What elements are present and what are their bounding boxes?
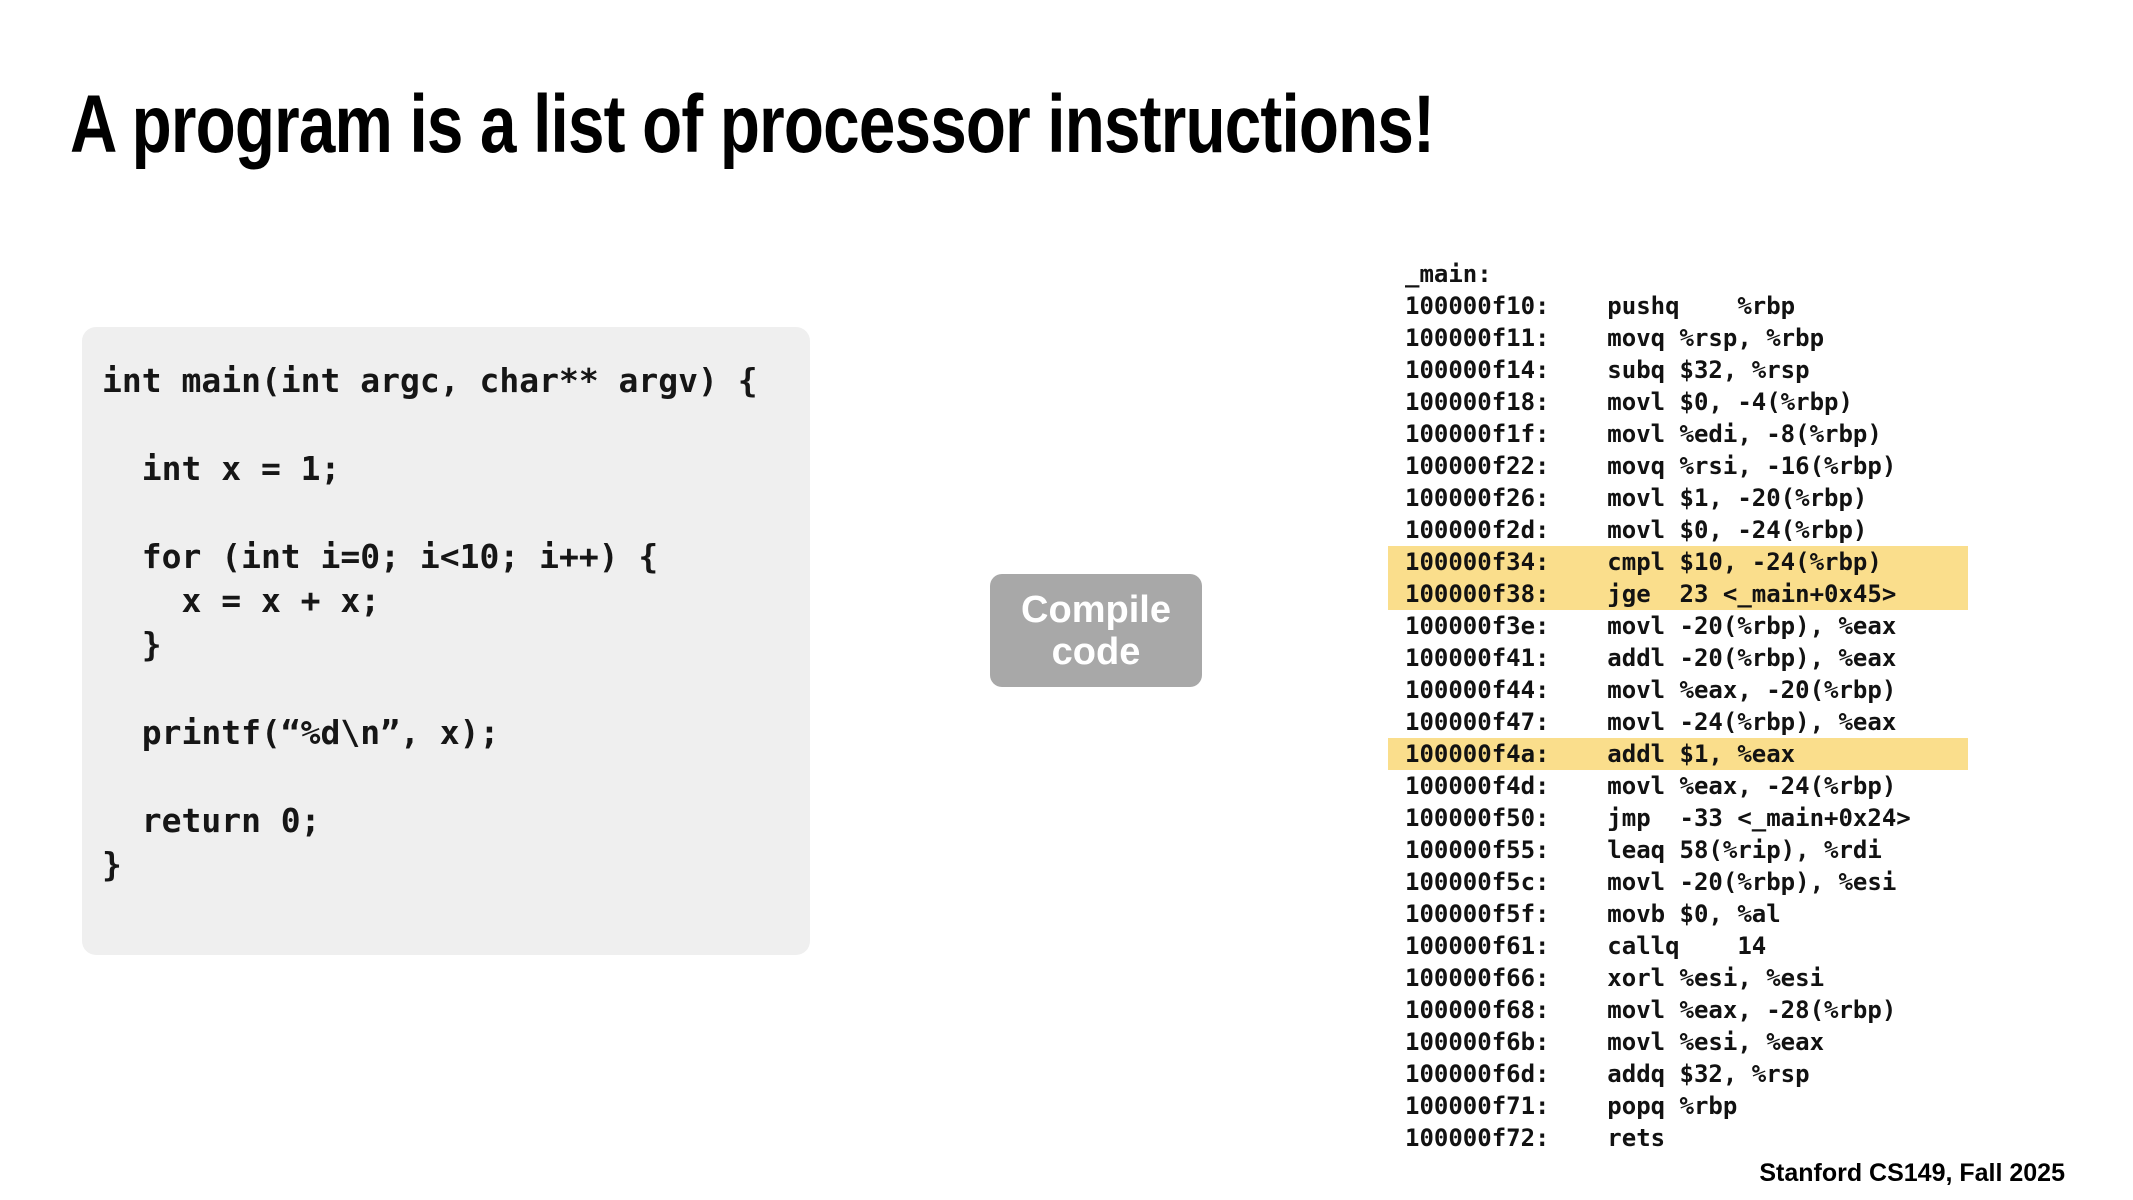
disassembly-row: 100000f4d: movl %eax, -24(%rbp) [1388,770,2008,802]
disassembly-row-text: 100000f41: addl -20(%rbp), %eax [1388,642,1896,674]
disassembly-row-text: 100000f38: jge 23 <_main+0x45> [1388,578,1896,610]
disassembly-row-text: 100000f44: movl %eax, -20(%rbp) [1388,674,1896,706]
disassembly-row-text: _main: [1388,258,1492,290]
disassembly-row-text: 100000f5f: movb $0, %al [1388,898,1781,930]
disassembly-row-text: 100000f11: movq %rsp, %rbp [1388,322,1824,354]
disassembly-row-text: 100000f6d: addq $32, %rsp [1388,1058,1810,1090]
disassembly-row: 100000f5f: movb $0, %al [1388,898,2008,930]
disassembly-row: 100000f34: cmpl $10, -24(%rbp) [1388,546,2008,578]
disassembly-row-text: 100000f55: leaq 58(%rip), %rdi [1388,834,1882,866]
disassembly-row-text: 100000f5c: movl -20(%rbp), %esi [1388,866,1896,898]
disassembly-row-text: 100000f3e: movl -20(%rbp), %eax [1388,610,1896,642]
disassembly-row: 100000f41: addl -20(%rbp), %eax [1388,642,2008,674]
disassembly-row-text: 100000f26: movl $1, -20(%rbp) [1388,482,1867,514]
disassembly-row: 100000f55: leaq 58(%rip), %rdi [1388,834,2008,866]
disassembly-row-text: 100000f61: callq 14 [1388,930,1766,962]
disassembly-row: 100000f18: movl $0, -4(%rbp) [1388,386,2008,418]
compile-code-box: Compile code [990,574,1202,687]
disassembly-row-text: 100000f71: popq %rbp [1388,1090,1737,1122]
disassembly-row-text: 100000f34: cmpl $10, -24(%rbp) [1388,546,1882,578]
disassembly-row: 100000f2d: movl $0, -24(%rbp) [1388,514,2008,546]
disassembly-row-text: 100000f47: movl -24(%rbp), %eax [1388,706,1896,738]
disassembly-row: 100000f6d: addq $32, %rsp [1388,1058,2008,1090]
disassembly-row: 100000f44: movl %eax, -20(%rbp) [1388,674,2008,706]
disassembly-row: 100000f22: movq %rsi, -16(%rbp) [1388,450,2008,482]
disassembly-row: 100000f61: callq 14 [1388,930,2008,962]
disassembly-row: 100000f38: jge 23 <_main+0x45> [1388,578,2008,610]
disassembly-row: 100000f26: movl $1, -20(%rbp) [1388,482,2008,514]
disassembly-row-text: 100000f50: jmp -33 <_main+0x24> [1388,802,1911,834]
disassembly-row: 100000f6b: movl %esi, %eax [1388,1026,2008,1058]
disassembly-row-text: 100000f22: movq %rsi, -16(%rbp) [1388,450,1896,482]
disassembly-row: 100000f4a: addl $1, %eax [1388,738,2008,770]
disassembly-row: 100000f71: popq %rbp [1388,1090,2008,1122]
disassembly-row-text: 100000f72: rets [1388,1122,1665,1154]
disassembly-row: 100000f10: pushq %rbp [1388,290,2008,322]
source-code-panel: int main(int argc, char** argv) { int x … [82,327,810,955]
disassembly-row: 100000f3e: movl -20(%rbp), %eax [1388,610,2008,642]
disassembly-listing: _main:100000f10: pushq %rbp100000f11: mo… [1388,258,2008,1154]
disassembly-row: 100000f11: movq %rsp, %rbp [1388,322,2008,354]
disassembly-row-text: 100000f4a: addl $1, %eax [1388,738,1795,770]
disassembly-row-text: 100000f10: pushq %rbp [1388,290,1795,322]
disassembly-row: 100000f68: movl %eax, -28(%rbp) [1388,994,2008,1026]
disassembly-row: 100000f1f: movl %edi, -8(%rbp) [1388,418,2008,450]
disassembly-row-text: 100000f14: subq $32, %rsp [1388,354,1810,386]
disassembly-row-text: 100000f18: movl $0, -4(%rbp) [1388,386,1853,418]
slide-footer: Stanford CS149, Fall 2025 [1759,1159,2065,1188]
source-code-listing: int main(int argc, char** argv) { int x … [102,359,758,887]
disassembly-row: 100000f5c: movl -20(%rbp), %esi [1388,866,2008,898]
slide-canvas: A program is a list of processor instruc… [0,0,2133,1200]
disassembly-row-text: 100000f6b: movl %esi, %eax [1388,1026,1824,1058]
compile-code-label: Compile code [990,574,1202,687]
disassembly-row-text: 100000f4d: movl %eax, -24(%rbp) [1388,770,1896,802]
disassembly-row-text: 100000f68: movl %eax, -28(%rbp) [1388,994,1896,1026]
disassembly-row-text: 100000f2d: movl $0, -24(%rbp) [1388,514,1867,546]
disassembly-row: 100000f66: xorl %esi, %esi [1388,962,2008,994]
disassembly-row: _main: [1388,258,2008,290]
disassembly-row: 100000f47: movl -24(%rbp), %eax [1388,706,2008,738]
disassembly-row-text: 100000f1f: movl %edi, -8(%rbp) [1388,418,1882,450]
disassembly-row: 100000f50: jmp -33 <_main+0x24> [1388,802,2008,834]
disassembly-row-text: 100000f66: xorl %esi, %esi [1388,962,1824,994]
disassembly-row: 100000f14: subq $32, %rsp [1388,354,2008,386]
page-title: A program is a list of processor instruc… [70,77,1590,173]
disassembly-row: 100000f72: rets [1388,1122,2008,1154]
